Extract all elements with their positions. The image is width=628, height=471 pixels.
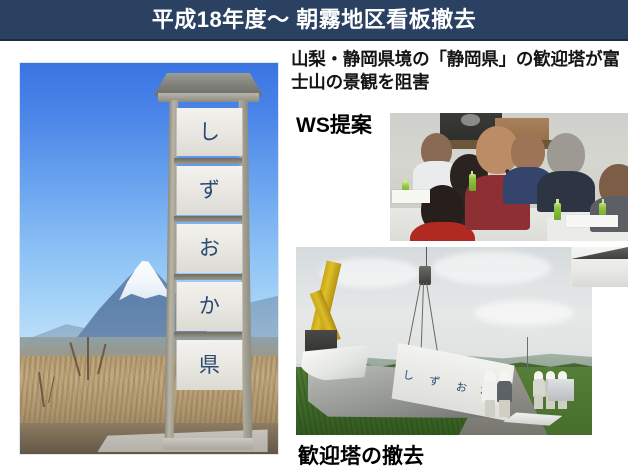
tower-panel-2: ず bbox=[176, 166, 243, 214]
cloud-3 bbox=[474, 300, 575, 326]
tower-panel-5: 県 bbox=[176, 340, 243, 390]
removal-caption: 歓迎塔の撤去 bbox=[298, 440, 424, 470]
participant-far-left bbox=[421, 133, 452, 187]
photo-tower-removal: し ず お か bbox=[296, 247, 592, 435]
welcome-tower: し ず お か 県 bbox=[166, 73, 251, 444]
ceiling-speaker bbox=[461, 114, 480, 126]
tower-gap-4 bbox=[174, 332, 242, 338]
person-body bbox=[537, 171, 595, 213]
sign-char-1: し bbox=[401, 367, 414, 385]
document-papers-right bbox=[566, 215, 618, 227]
tower-panel-3: お bbox=[176, 224, 243, 272]
title-bar: 平成18年度～ 朝霧地区看板撤去 bbox=[0, 0, 628, 41]
lead-description: 山梨・静岡県境の「静岡県」の歓迎塔が富士山の景観を阻害 bbox=[291, 48, 625, 95]
photo-workshop-meeting bbox=[390, 113, 628, 241]
worker-group-1 bbox=[533, 371, 545, 409]
photo-sign-tower: し ず お か 県 bbox=[19, 62, 279, 455]
cloud-2 bbox=[432, 251, 550, 285]
bare-tree-1 bbox=[87, 337, 89, 380]
worker-legs bbox=[499, 400, 510, 417]
worker-torso bbox=[533, 379, 545, 396]
tower-gap-3 bbox=[174, 274, 242, 280]
person-head bbox=[547, 133, 585, 176]
tower-gap-1 bbox=[174, 158, 242, 164]
worker-standing bbox=[497, 371, 512, 416]
tower-panel-4: か bbox=[176, 282, 243, 330]
worker-torso bbox=[482, 381, 497, 402]
document-papers-left bbox=[392, 190, 430, 203]
ws-proposal-label: WS提案 bbox=[296, 109, 372, 139]
tower-base bbox=[163, 438, 253, 450]
worker-legs bbox=[485, 400, 496, 417]
worker-pointing bbox=[482, 371, 497, 416]
drink-bottle-3 bbox=[554, 203, 561, 220]
utility-pole bbox=[527, 337, 528, 371]
page-title: 平成18年度～ 朝霧地区看板撤去 bbox=[0, 0, 628, 39]
participant-right-elder bbox=[547, 133, 585, 205]
worker-torso bbox=[497, 381, 512, 402]
tower-gap-2 bbox=[174, 216, 242, 222]
worker-legs bbox=[534, 395, 543, 409]
tower-panel-1: し bbox=[176, 108, 243, 156]
drink-bottle-2 bbox=[469, 174, 476, 191]
support-vehicle bbox=[548, 379, 575, 402]
crane-hook-block bbox=[419, 266, 431, 285]
person-head bbox=[511, 133, 544, 170]
sign-char-3: お bbox=[455, 378, 468, 396]
